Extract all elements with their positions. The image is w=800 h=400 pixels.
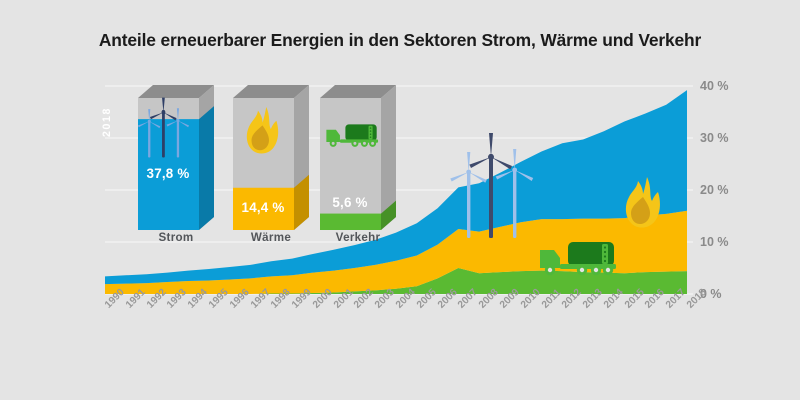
year-tag-2018: 2018 — [101, 107, 113, 137]
bar-value-label-waerme: 14,4 % — [233, 200, 293, 215]
bar-category-label-waerme: Wärme — [233, 231, 309, 244]
bar-fill-front — [320, 214, 381, 230]
sector-bar-graphic-strom — [138, 85, 214, 230]
sector-bar-verkehr[interactable]: 5,6 %Verkehr — [320, 85, 396, 230]
sector-bar-strom[interactable]: 37,8 %Strom — [138, 85, 214, 230]
bar-fill-side — [199, 106, 214, 230]
y-axis-tick-label: 20 % — [700, 183, 729, 197]
sector-bar-waerme[interactable]: 14,4 %Wärme — [233, 85, 309, 230]
bar-value-label-verkehr: 5,6 % — [320, 195, 380, 210]
bar-category-label-verkehr: Verkehr — [320, 231, 396, 244]
y-axis-tick-label: 10 % — [700, 235, 729, 249]
bar-front-face — [320, 98, 381, 230]
y-axis-tick-label: 40 % — [700, 79, 729, 93]
y-axis-tick-label: 30 % — [700, 131, 729, 145]
infographic-root: Anteile erneuerbarer Energien in den Sek… — [0, 0, 800, 400]
sector-bar-group: 2018 — [105, 85, 405, 245]
bar-value-label-strom: 37,8 % — [138, 166, 198, 181]
bar-category-label-strom: Strom — [138, 231, 214, 244]
